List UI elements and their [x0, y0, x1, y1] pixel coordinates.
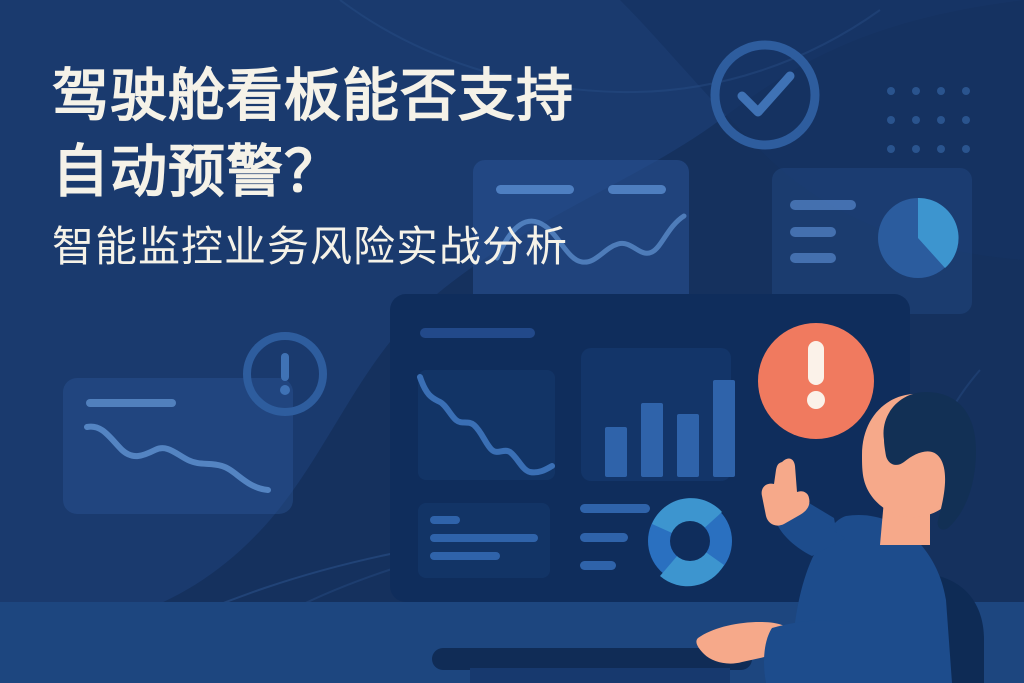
headline-line-2: 自动预警？: [52, 134, 752, 210]
person-forearm: [764, 620, 852, 683]
subheadline-line-1: 智能监控业务风险实战分析: [52, 216, 752, 278]
alert-exclamation-icon: [758, 323, 874, 439]
headline-line-1: 驾驶舱看板能否支持: [52, 58, 752, 134]
headline-block: 驾驶舱看板能否支持 自动预警？ 智能监控业务风险实战分析: [52, 58, 752, 278]
poster-canvas: 驾驶舱看板能否支持 自动预警？ 智能监控业务风险实战分析: [0, 0, 1024, 683]
